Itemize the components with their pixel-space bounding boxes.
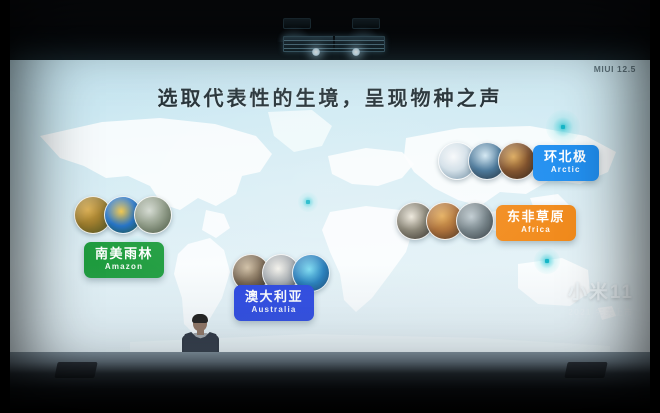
stage-floor-reflection xyxy=(0,352,660,374)
truss-lamp-left xyxy=(312,48,320,56)
photo-cluster-africa xyxy=(396,202,494,240)
region-badge-amazon-en: Amazon xyxy=(95,263,153,272)
region-badge-arctic-en: Arctic xyxy=(544,166,588,175)
stage-lighting-truss xyxy=(283,36,385,52)
photo-moose xyxy=(498,142,536,180)
venue-right-surround xyxy=(650,0,660,413)
led-presentation-screen: 选取代表性的生境，呈现物种之声 南美雨林 Amazon xyxy=(10,60,650,352)
brand-name: 小米11 xyxy=(568,277,634,304)
region-badge-africa[interactable]: 东非草原 Africa xyxy=(496,205,576,241)
presentation-slide: 选取代表性的生境，呈现物种之声 南美雨林 Amazon xyxy=(10,60,650,352)
pulse-marker-africa xyxy=(534,248,560,274)
presenter-hair xyxy=(192,314,208,323)
truss-lamp-right xyxy=(352,48,360,56)
xiaomi-brand-watermark: 小米11 2021 完美上市 xyxy=(568,277,634,318)
region-badge-africa-cn: 东非草原 xyxy=(507,210,565,224)
miui-version-watermark: MIUI 12.5 xyxy=(594,64,636,74)
pulse-marker-arctic xyxy=(546,110,580,144)
presenter-figure xyxy=(177,315,223,352)
region-badge-australia[interactable]: 澳大利亚 Australia xyxy=(234,285,314,321)
region-badge-africa-en: Africa xyxy=(507,226,565,235)
brand-tagline: 2021 完美上市 xyxy=(568,307,634,318)
stage-monitor-wedge-left xyxy=(54,362,97,378)
venue-left-surround xyxy=(0,0,10,413)
photo-cluster-amazon xyxy=(74,196,172,234)
keynote-stage-photo: 选取代表性的生境，呈现物种之声 南美雨林 Amazon xyxy=(0,0,660,413)
region-badge-australia-en: Australia xyxy=(245,306,303,315)
stage-monitor-wedge-right xyxy=(564,362,607,378)
photo-cluster-arctic xyxy=(438,142,536,180)
photo-sloth xyxy=(134,196,172,234)
pulse-marker-australia xyxy=(298,192,318,212)
region-badge-amazon-cn: 南美雨林 xyxy=(95,247,153,261)
slide-title: 选取代表性的生境，呈现物种之声 xyxy=(10,82,650,111)
photo-rhino xyxy=(456,202,494,240)
region-badge-australia-cn: 澳大利亚 xyxy=(245,290,303,304)
region-badge-arctic-cn: 环北极 xyxy=(544,150,588,164)
region-badge-arctic[interactable]: 环北极 Arctic xyxy=(533,145,599,181)
region-badge-amazon[interactable]: 南美雨林 Amazon xyxy=(84,242,164,278)
